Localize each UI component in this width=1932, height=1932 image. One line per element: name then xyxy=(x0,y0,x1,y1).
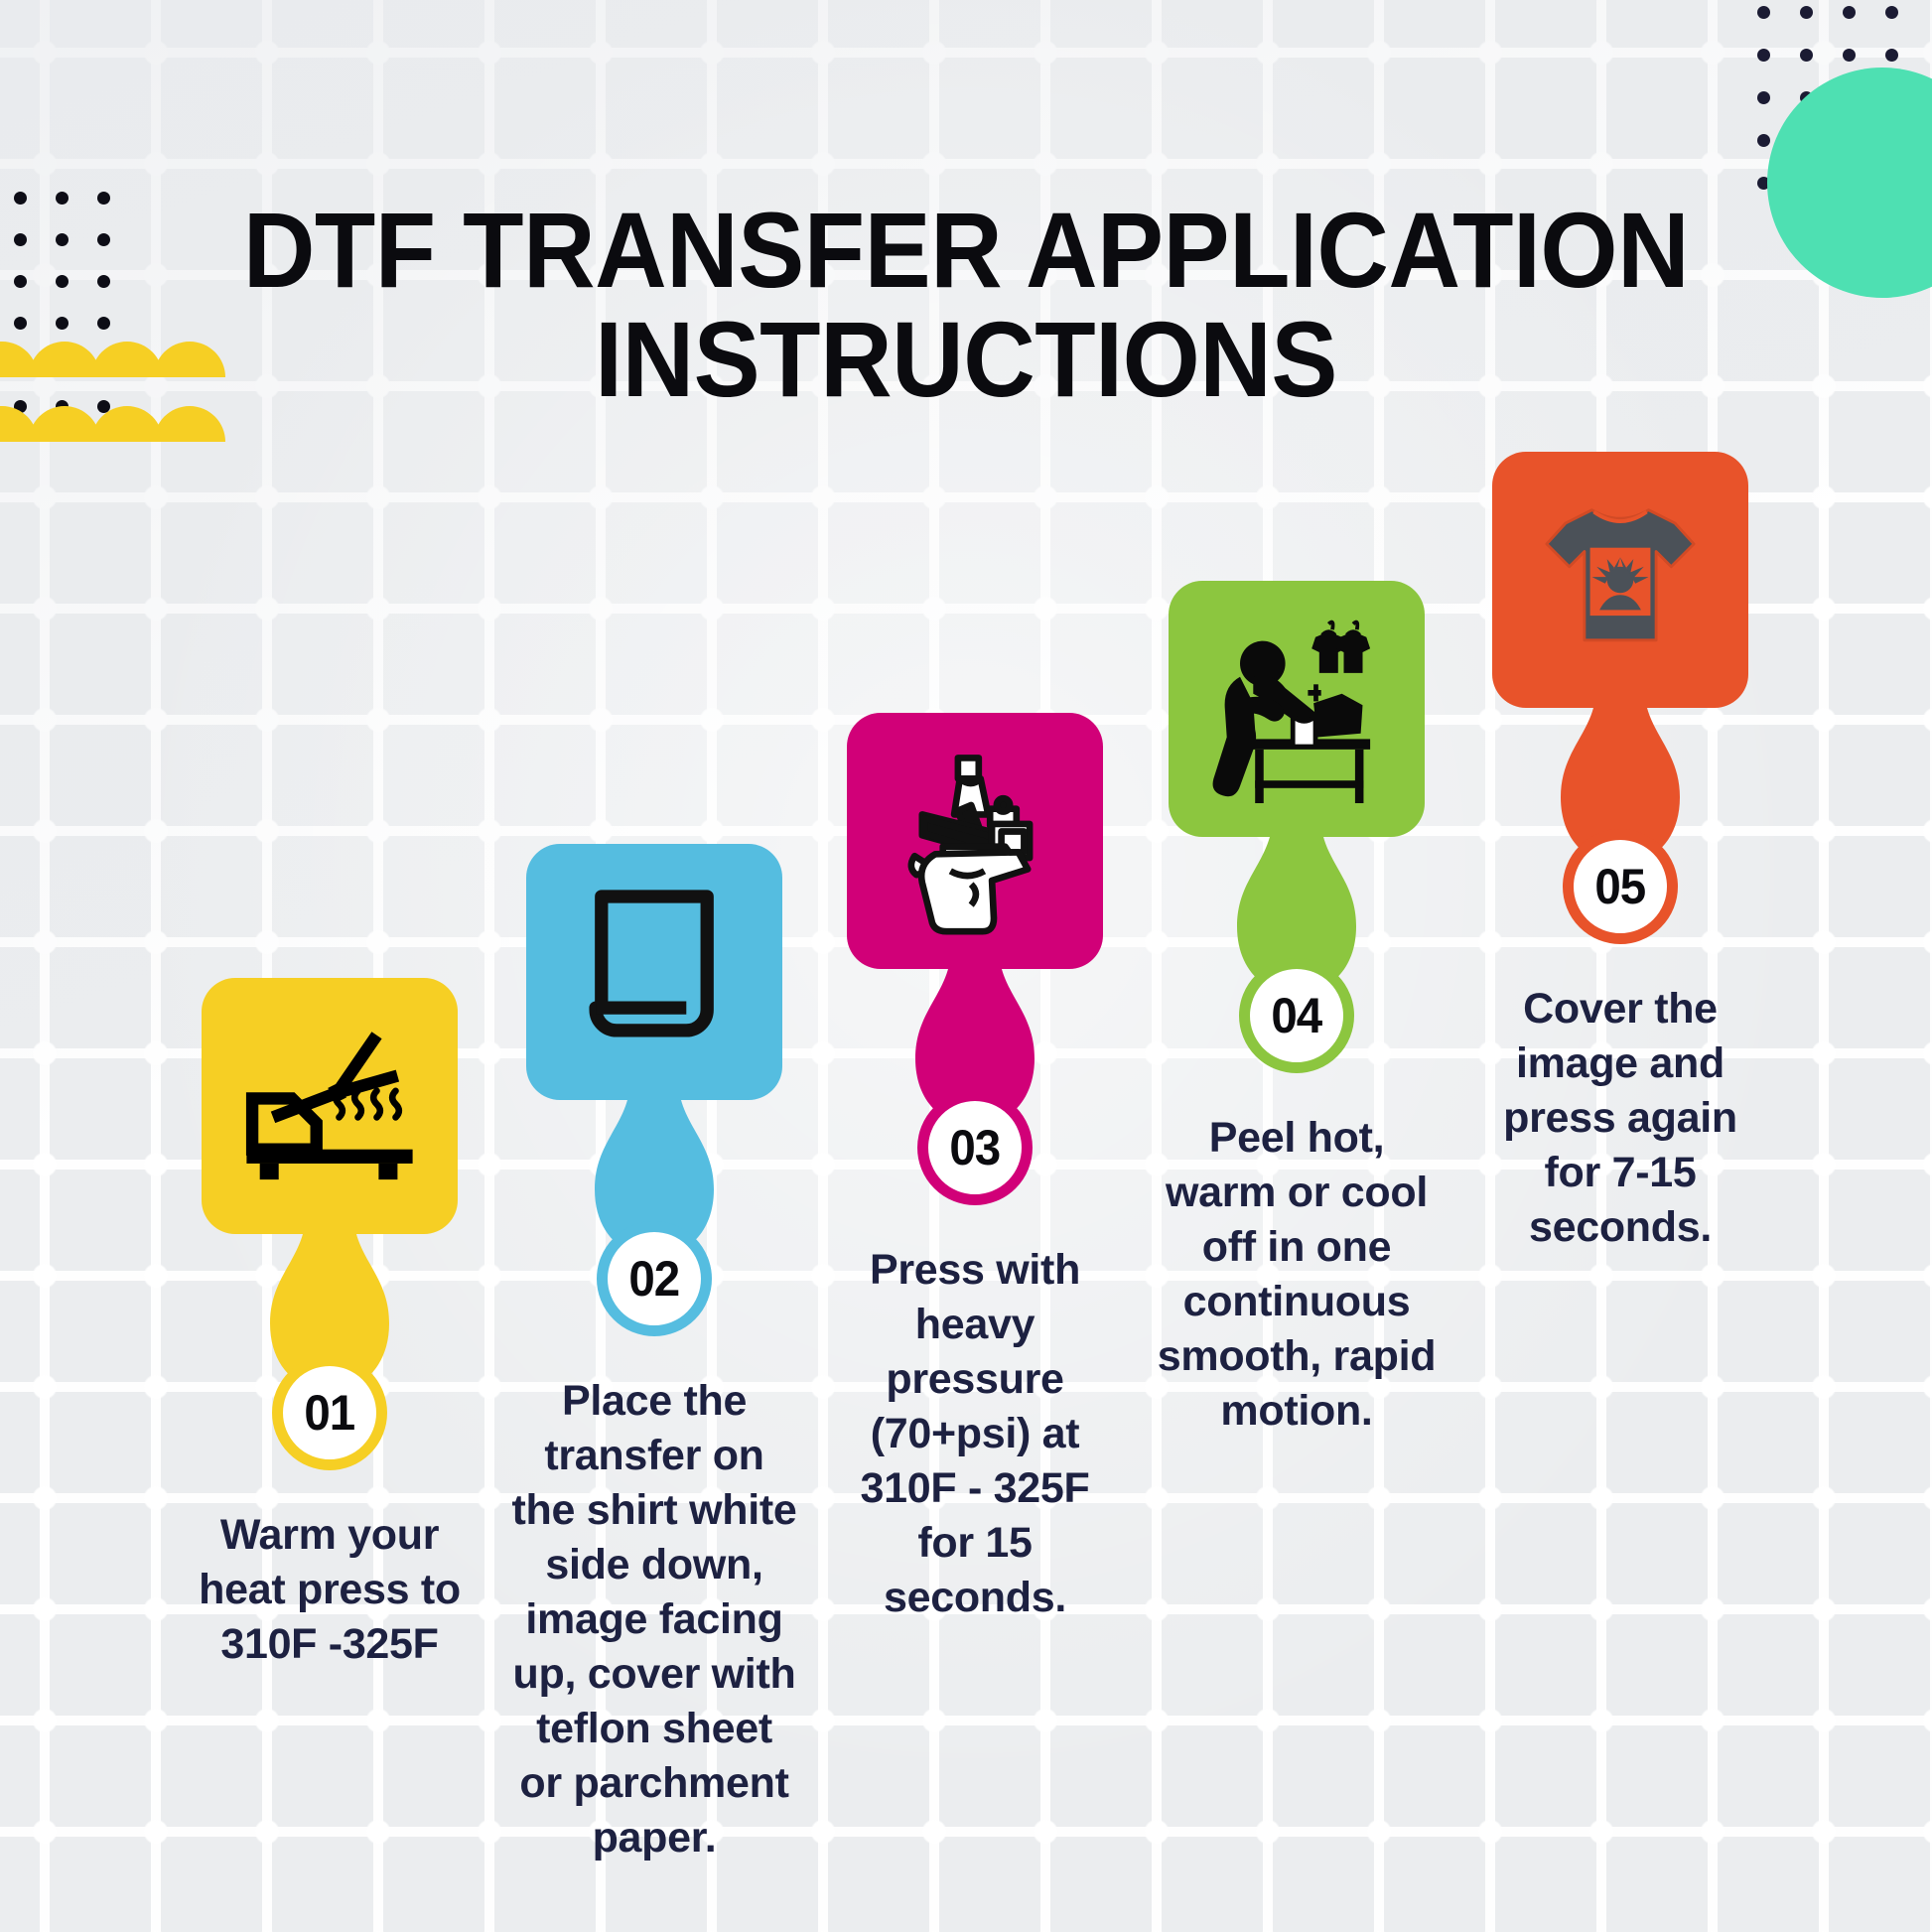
step-number-badge-04[interactable]: 04 xyxy=(1239,958,1354,1073)
step-number-label: 02 xyxy=(629,1250,680,1308)
step-01: 01Warm your heat press to 310F -325F xyxy=(202,978,458,1234)
step-icon-card-01[interactable] xyxy=(202,978,458,1234)
step-number-label: 05 xyxy=(1595,858,1646,915)
heat-press-open-icon xyxy=(235,1012,424,1200)
step-icon-card-04[interactable] xyxy=(1169,581,1425,837)
printed-tshirt-icon xyxy=(1526,485,1715,674)
step-caption-02: Place the transfer on the shirt white si… xyxy=(510,1374,798,1865)
step-number-label: 03 xyxy=(950,1119,1001,1176)
worker-peeling-icon xyxy=(1202,615,1391,803)
step-caption-01: Warm your heat press to 310F -325F xyxy=(186,1508,474,1672)
step-04: 04Peel hot, warm or cool off in one cont… xyxy=(1169,581,1425,837)
step-number-badge-02[interactable]: 02 xyxy=(597,1221,712,1336)
step-caption-04: Peel hot, warm or cool off in one contin… xyxy=(1153,1111,1441,1439)
step-icon-card-03[interactable] xyxy=(847,713,1103,969)
step-05: 05Cover the image and press again for 7-… xyxy=(1492,452,1748,708)
step-caption-03: Press with heavy pressure (70+psi) at 31… xyxy=(831,1243,1119,1625)
steps-container: 01Warm your heat press to 310F -325F 02P… xyxy=(0,0,1932,1932)
step-number-label: 01 xyxy=(305,1384,355,1442)
step-number-badge-01[interactable]: 01 xyxy=(272,1355,387,1470)
step-number-badge-03[interactable]: 03 xyxy=(917,1090,1033,1205)
transfer-sheet-icon xyxy=(560,878,749,1066)
heat-press-machine-icon xyxy=(881,747,1069,935)
step-icon-card-05[interactable] xyxy=(1492,452,1748,708)
step-03: 03Press with heavy pressure (70+psi) at … xyxy=(847,713,1103,969)
step-caption-05: Cover the image and press again for 7-15… xyxy=(1476,982,1764,1255)
step-number-label: 04 xyxy=(1272,987,1322,1044)
step-02: 02Place the transfer on the shirt white … xyxy=(526,844,782,1100)
step-number-badge-05[interactable]: 05 xyxy=(1563,829,1678,944)
step-icon-card-02[interactable] xyxy=(526,844,782,1100)
